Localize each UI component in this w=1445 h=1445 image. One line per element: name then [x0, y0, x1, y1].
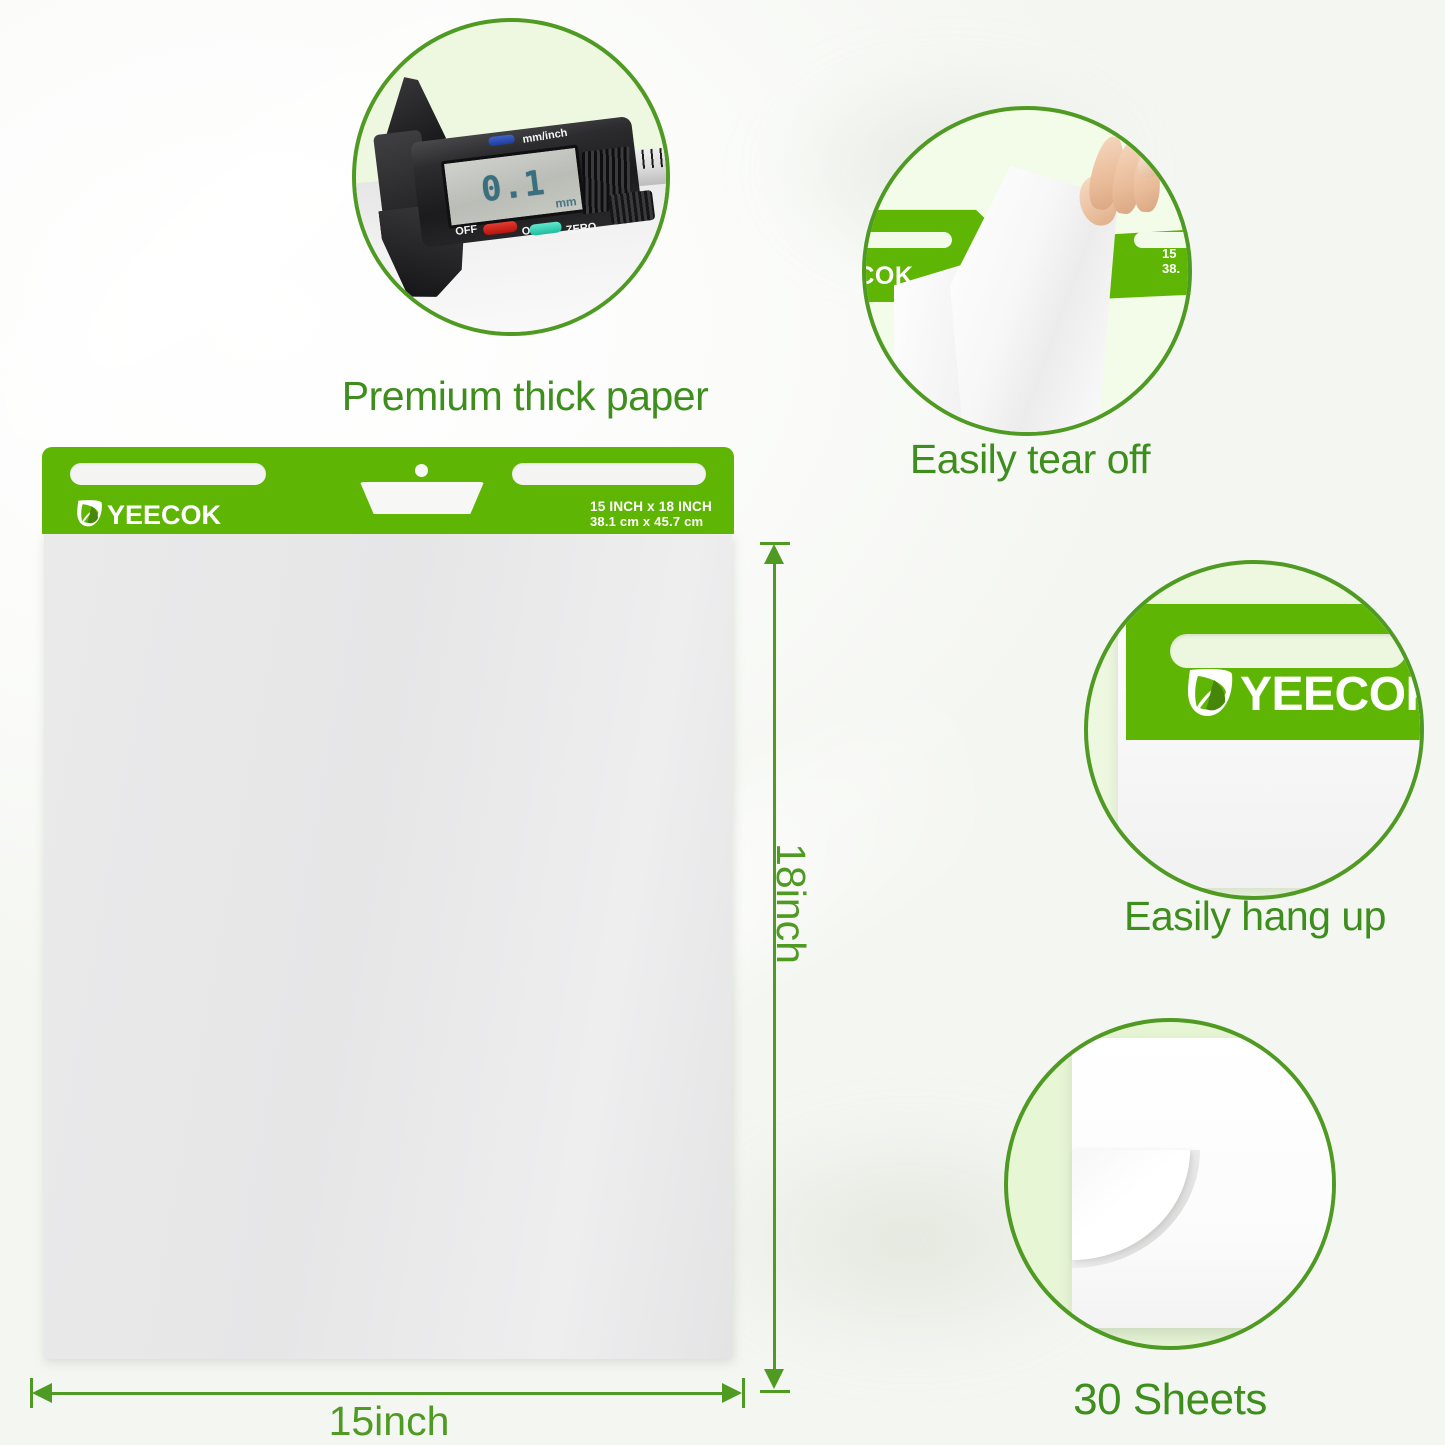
- feature-circle-premium-thick-paper: 6 mm/inch 0.1 mm OFF ON ZERO: [352, 18, 670, 336]
- caliper-reading: 0.1: [479, 163, 548, 211]
- product-dimensions-cm: 38.1 cm x 45.7 cm: [590, 514, 712, 529]
- dimension-arrowhead-up: [764, 544, 784, 564]
- product-green-header: YEECOK 15 INCH x 18 INCH 38.1 cm x 45.7 …: [42, 447, 734, 534]
- feature-caption-thirty-sheets: 30 Sheets: [970, 1375, 1370, 1425]
- product-dimensions-inch: 15 INCH x 18 INCH: [590, 499, 712, 514]
- caliper-zero-button: [529, 221, 562, 236]
- dimension-line-vertical: [773, 550, 776, 1385]
- dimension-line-horizontal: [38, 1392, 738, 1395]
- feature-circle-easily-hang-up: YEECOK: [1084, 560, 1424, 900]
- dimension-label-height: 18inch: [767, 843, 814, 964]
- dimension-cap-bottom: [760, 1390, 790, 1393]
- feature-circle-easily-tear-off: EECOK 15 38.: [862, 106, 1192, 436]
- tear-dims-line2: 38.: [1162, 261, 1180, 276]
- product-brand-logo: YEECOK: [75, 497, 221, 534]
- product-hang-slot-right: [512, 463, 706, 485]
- feature-caption-premium-thick-paper: Premium thick paper: [220, 373, 830, 420]
- hanging-slot-icon: [1170, 634, 1406, 668]
- leaf-icon: [75, 497, 104, 534]
- product-brand-text: YEECOK: [107, 502, 221, 529]
- product-paper-sheet: [44, 534, 732, 1359]
- tear-dims-partial: 15 38.: [1162, 246, 1180, 276]
- caliper-reading-unit: mm: [554, 194, 577, 210]
- caliper-lcd-screen: 0.1 mm: [441, 145, 586, 229]
- dimension-arrowhead-down: [764, 1369, 784, 1389]
- tear-hang-slot-left: [862, 232, 952, 248]
- dimension-arrow-vertical: [762, 540, 788, 1395]
- product-dimensions-label: 15 INCH x 18 INCH 38.1 cm x 45.7 cm: [590, 499, 712, 529]
- feature-caption-easily-hang-up: Easily hang up: [1045, 893, 1445, 940]
- hang-brand-logo: YEECOK: [1184, 664, 1424, 725]
- leaf-icon: [1184, 664, 1236, 725]
- caliper-body: mm/inch 0.1 mm OFF ON ZERO: [410, 116, 643, 248]
- dimension-label-width: 15inch: [28, 1398, 750, 1445]
- product-hang-trapezoid: [360, 482, 484, 514]
- feature-caption-easily-tear-off: Easily tear off: [830, 436, 1230, 483]
- caliper-thumb-knob: [608, 190, 655, 225]
- caliper-blue-button: [488, 134, 515, 146]
- caliper-zero-label: ZERO: [565, 221, 597, 237]
- hang-brand-text: YEECOK: [1240, 671, 1424, 719]
- caliper-mode-label: mm/inch: [522, 127, 569, 146]
- tear-dims-line1: 15: [1162, 246, 1180, 261]
- feature-circle-thirty-sheets: [1004, 1018, 1336, 1350]
- product-easel-pad: YEECOK 15 INCH x 18 INCH 38.1 cm x 45.7 …: [42, 447, 734, 1359]
- hand-tearing-sheet-icon: [1080, 136, 1168, 228]
- product-infographic: 6 mm/inch 0.1 mm OFF ON ZERO Premium thi…: [0, 0, 1445, 1445]
- caliper-off-label: OFF: [455, 223, 478, 238]
- hand-fingernail: [1138, 156, 1158, 178]
- product-hang-hole: [415, 464, 428, 477]
- product-hang-slot-left: [70, 463, 266, 485]
